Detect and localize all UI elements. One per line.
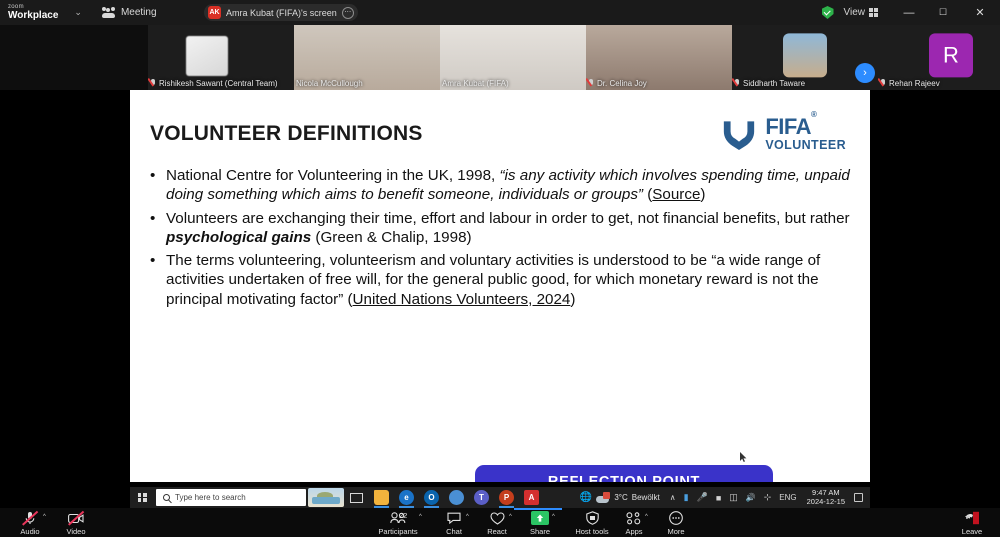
teams-icon: T	[474, 490, 489, 505]
edge-icon: e	[399, 490, 414, 505]
mic-muted-icon	[734, 79, 740, 88]
minimize-button[interactable]: —	[892, 0, 926, 25]
apps-label: Apps	[625, 527, 642, 536]
chevron-down-icon[interactable]: ⌄	[74, 7, 82, 18]
avatar	[783, 33, 827, 77]
bullet-part: National Centre for Volunteering in the …	[166, 167, 500, 184]
reflection-point-callout: REFLECTION POINT What does the definitio…	[475, 465, 773, 482]
chat-button[interactable]: Chat	[430, 511, 478, 536]
camera-stopped-icon	[68, 511, 84, 525]
microphone-muted-icon	[24, 511, 36, 525]
host-shield-icon	[586, 511, 599, 525]
bullet-part: (Green & Chalip, 1998)	[311, 229, 471, 246]
shared-screen-region: VOLUNTEER DEFINITIONS FIFA® VOLUNTEER • …	[130, 90, 870, 482]
participants-button[interactable]: Participants	[370, 511, 426, 536]
grid-view-icon	[869, 8, 878, 17]
weather-icon	[596, 492, 610, 503]
apps-icon	[626, 511, 642, 525]
participants-count: 22	[399, 511, 407, 520]
tray-app-icon[interactable]: 🌐	[576, 492, 596, 503]
apps-button[interactable]: Apps	[610, 511, 658, 536]
windows-taskbar: Type here to search e O T P A 🌐 3°C Bewö…	[130, 487, 870, 508]
chat-caret[interactable]: ^	[466, 514, 469, 520]
participant-tiles: Rishikesh Sawant (Central Team) Nicola M…	[148, 25, 1000, 90]
share-caret[interactable]: ^	[552, 514, 555, 520]
clock-date: 2024-12-15	[807, 498, 845, 506]
participant-tile[interactable]: R Rehan Rajeev	[878, 25, 1000, 90]
leave-button[interactable]: Leave	[948, 511, 996, 536]
participant-tile[interactable]: Siddharth Taware	[732, 25, 878, 90]
task-view-button[interactable]	[344, 487, 369, 508]
brand-bottom-label: Workplace	[8, 11, 58, 21]
tray-volume-icon[interactable]: 🔊	[742, 493, 760, 502]
search-input[interactable]: Type here to search	[156, 489, 306, 506]
audio-label: Audio	[20, 527, 39, 536]
language-indicator[interactable]: ENG	[775, 493, 800, 502]
tray-bluetooth-icon[interactable]: ⊹	[760, 492, 776, 503]
tray-battery-icon[interactable]: ■	[712, 493, 725, 503]
task-view-icon	[350, 493, 363, 503]
fifa-volunteer-logo: FIFA® VOLUNTEER	[720, 116, 846, 152]
powerpoint-icon: P	[499, 490, 514, 505]
bullet-part: )	[700, 186, 705, 203]
slide-bullet-list: • National Centre for Volunteering in th…	[150, 166, 850, 313]
participant-name-badge: Dr. Celina Joy	[588, 79, 647, 88]
leave-meeting-icon	[964, 511, 980, 525]
clock[interactable]: 9:47 AM 2024-12-15	[801, 489, 851, 506]
participant-name: Rehan Rajeev	[889, 79, 940, 88]
reflection-title: REFLECTION POINT	[475, 474, 773, 482]
chat-bubble-icon	[447, 511, 461, 525]
tray-expand-icon[interactable]: ∧	[666, 493, 680, 502]
bullet-part: Volunteers are exchanging their time, ef…	[166, 210, 850, 227]
taskbar-app-microsoft-teams[interactable]: T	[469, 487, 494, 508]
list-item: • National Centre for Volunteering in th…	[150, 166, 850, 205]
mic-muted-icon	[150, 79, 156, 88]
sharer-label: Amra Kubat (FIFA)'s screen	[226, 8, 337, 18]
folder-icon	[374, 490, 389, 505]
taskbar-app-zoom[interactable]	[444, 487, 469, 508]
apps-caret[interactable]: ^	[645, 514, 648, 520]
close-button[interactable]: ✕	[960, 0, 1000, 25]
unv-link[interactable]: United Nations Volunteers, 2024	[353, 291, 571, 308]
mic-muted-icon	[588, 79, 594, 88]
more-button[interactable]: More	[652, 511, 700, 536]
participant-name-badge: Nicola McCullough	[296, 79, 363, 88]
view-label: View	[844, 7, 866, 18]
news-and-interests-widget[interactable]	[308, 488, 344, 507]
zoom-meeting-toolbar: Audio ^ Video Participants 22 ^ Chat ^ R…	[0, 508, 1000, 537]
taskbar-app-file-explorer[interactable]	[369, 487, 394, 508]
participant-tile[interactable]: Amra Kubat (FIFA)	[440, 25, 586, 90]
zoom-workplace-logo: zoom Workplace	[8, 4, 58, 21]
start-button[interactable]	[130, 487, 154, 508]
sharer-avatar: AK	[208, 6, 221, 19]
bullet-part: )	[570, 291, 575, 308]
bullet-text: Volunteers are exchanging their time, ef…	[166, 209, 850, 248]
source-link[interactable]: Source	[652, 186, 700, 203]
host-tools-label: Host tools	[575, 527, 608, 536]
bullet-part-emphasis: psychological gains	[166, 229, 311, 246]
heart-reaction-icon	[490, 511, 505, 525]
tray-network-icon[interactable]: ▮	[680, 492, 693, 503]
react-caret[interactable]: ^	[509, 514, 512, 520]
view-button[interactable]: View	[844, 7, 879, 18]
participant-name: Siddharth Taware	[743, 79, 805, 88]
more-ellipsis-icon	[669, 511, 683, 525]
fifa-word: FIFA	[765, 114, 811, 139]
share-screen-icon	[531, 511, 549, 525]
share-options-icon[interactable]: ⋯	[342, 7, 354, 19]
bullet-part: (	[643, 186, 652, 203]
react-label: React	[487, 527, 507, 536]
react-button[interactable]: React	[473, 511, 521, 536]
participant-tile[interactable]: Rishikesh Sawant (Central Team)	[148, 25, 294, 90]
list-item: • The terms volunteering, volunteerism a…	[150, 251, 850, 309]
chat-label: Chat	[446, 527, 462, 536]
maximize-button[interactable]: ☐	[926, 0, 960, 25]
participant-name: Amra Kubat (FIFA)	[442, 79, 509, 88]
security-shield-icon[interactable]	[822, 6, 834, 19]
audio-options-caret[interactable]: ^	[43, 514, 46, 520]
share-label: Share	[530, 527, 550, 536]
share-button[interactable]: Share	[516, 511, 564, 536]
weather-description: Bewölkt	[632, 493, 660, 502]
bullet-text: National Centre for Volunteering in the …	[166, 166, 850, 205]
avatar: R	[929, 33, 973, 77]
mic-muted-icon	[880, 79, 886, 88]
participants-label: Participants	[378, 527, 417, 536]
zoom-icon	[449, 490, 464, 505]
bullet-marker: •	[150, 166, 166, 205]
weather-widget[interactable]: 3°C Bewölkt	[596, 492, 659, 503]
heart-icon	[720, 118, 758, 150]
leave-label: Leave	[962, 527, 982, 536]
participants-caret[interactable]: ^	[419, 514, 422, 520]
weather-temperature: 3°C	[614, 493, 627, 502]
registered-mark: ®	[811, 110, 816, 119]
meeting-tab-label: Meeting	[121, 7, 157, 18]
meeting-tab[interactable]: Meeting	[102, 7, 157, 18]
participant-name: Nicola McCullough	[296, 79, 363, 88]
participant-name-badge: Rishikesh Sawant (Central Team)	[150, 79, 278, 88]
taskbar-app-adobe-acrobat[interactable]: A	[519, 487, 544, 508]
video-button[interactable]: Video	[52, 511, 100, 536]
next-participants-button[interactable]: ›	[855, 63, 875, 83]
audio-button[interactable]: Audio	[6, 511, 54, 536]
participant-name-badge: Rehan Rajeev	[880, 79, 940, 88]
outlook-icon: O	[424, 490, 439, 505]
participant-filmstrip: Rishikesh Sawant (Central Team) Nicola M…	[0, 25, 1000, 90]
show-desktop-button[interactable]	[854, 493, 863, 502]
mouse-cursor	[740, 452, 747, 462]
tray-microphone-icon[interactable]: 🎤	[693, 492, 712, 503]
fifa-wordmark: FIFA® VOLUNTEER	[765, 116, 846, 152]
participant-name-badge: Siddharth Taware	[734, 79, 805, 88]
more-label: More	[667, 527, 684, 536]
screen-share-indicator[interactable]: AK Amra Kubat (FIFA)'s screen ⋯	[204, 4, 358, 21]
taskbar-app-outlook[interactable]: O	[419, 487, 444, 508]
taskbar-app-powerpoint[interactable]: P	[494, 487, 519, 508]
participant-name: Rishikesh Sawant (Central Team)	[159, 79, 278, 88]
tray-display-icon[interactable]: ◫	[725, 492, 742, 503]
system-tray: 🌐 3°C Bewölkt ∧ ▮ 🎤 ■ ◫ 🔊 ⊹ ENG 9:47 AM …	[576, 487, 870, 508]
acrobat-icon: A	[524, 490, 539, 505]
participant-name: Dr. Celina Joy	[597, 79, 647, 88]
window-controls: View — ☐ ✕	[822, 0, 1000, 25]
taskbar-app-microsoft-edge[interactable]: e	[394, 487, 419, 508]
video-label: Video	[66, 527, 85, 536]
list-item: • Volunteers are exchanging their time, …	[150, 209, 850, 248]
bullet-marker: •	[150, 209, 166, 248]
participant-tile[interactable]: Dr. Celina Joy	[586, 25, 732, 90]
search-icon	[163, 494, 170, 501]
bullet-marker: •	[150, 251, 166, 309]
bullet-text: The terms volunteering, volunteerism and…	[166, 251, 850, 309]
participant-name-badge: Amra Kubat (FIFA)	[442, 79, 509, 88]
participant-tile[interactable]: Nicola McCullough	[294, 25, 440, 90]
window-title-bar: zoom Workplace ⌄ Meeting AK Amra Kubat (…	[0, 0, 1000, 25]
volunteer-word: VOLUNTEER	[765, 139, 846, 152]
slide-title: VOLUNTEER DEFINITIONS	[150, 122, 423, 146]
share-active-indicator	[514, 508, 562, 510]
people-icon	[102, 7, 115, 18]
search-placeholder: Type here to search	[175, 493, 246, 502]
